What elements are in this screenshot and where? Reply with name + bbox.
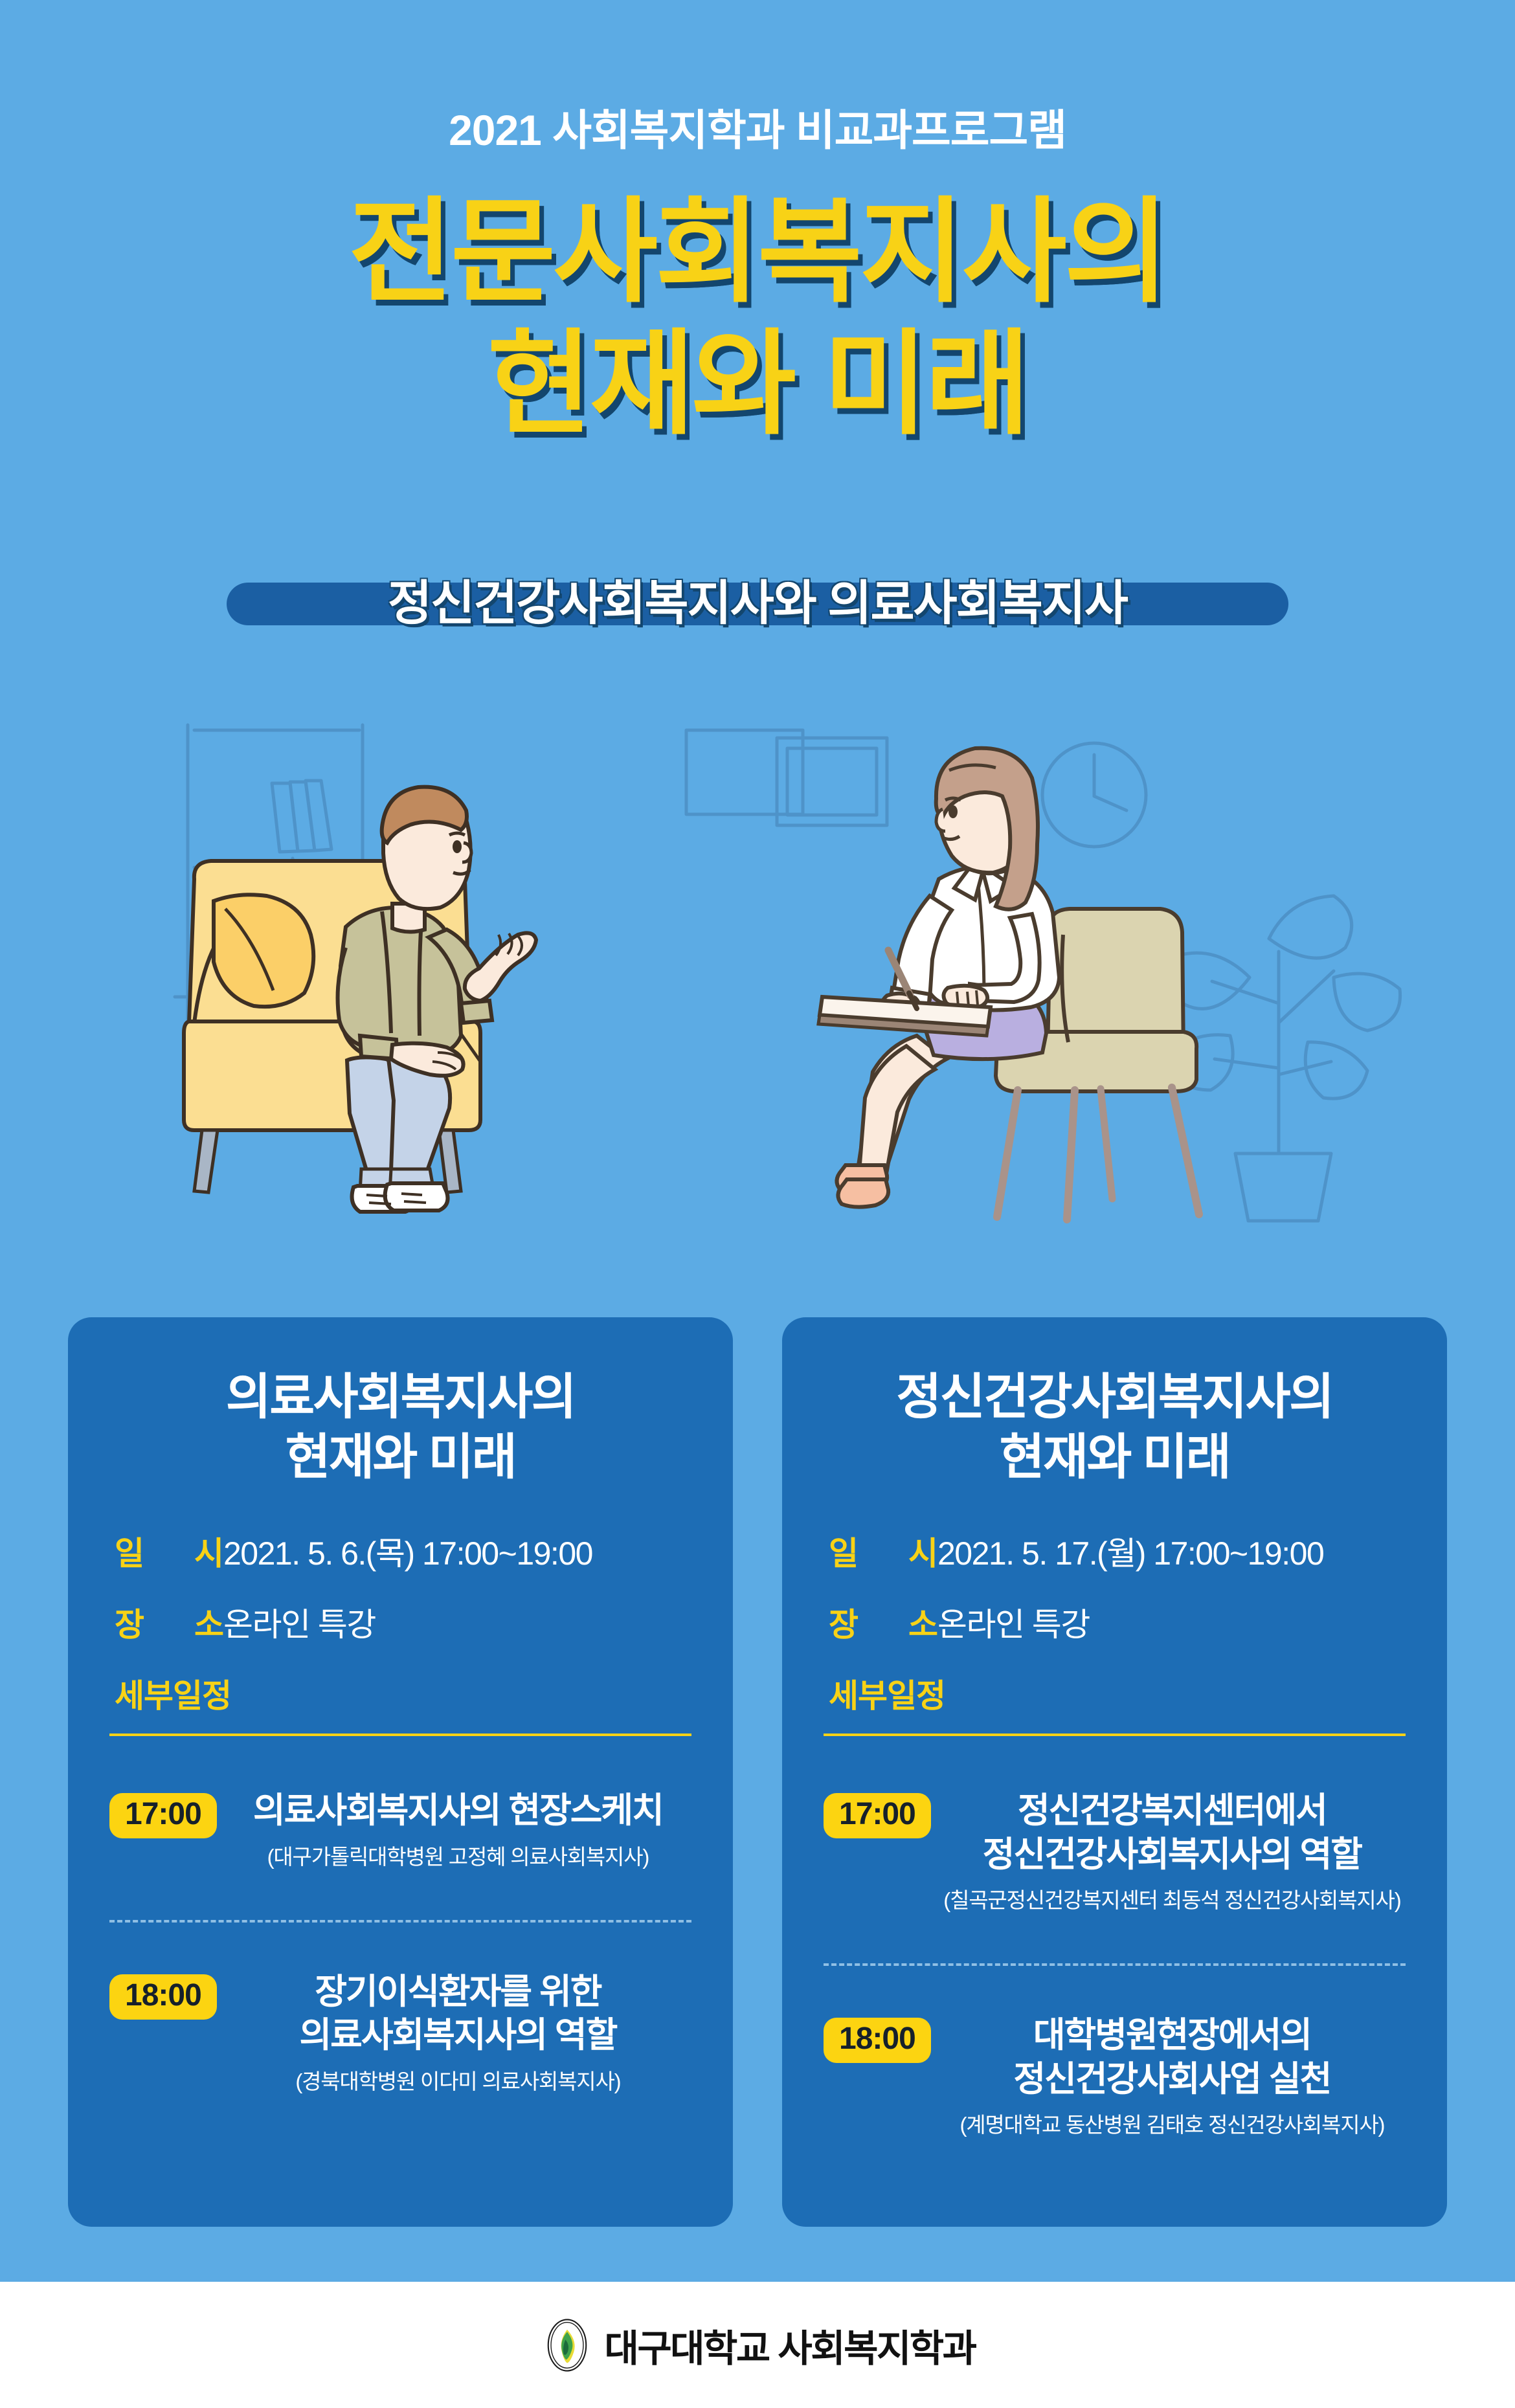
footer-bar: 대구대학교 사회복지학과 [0,2282,1515,2408]
schedule-title-line-1: 장기이식환자를 위한 [225,1970,691,2014]
meta-row-datetime: 일 시 2021. 5. 17.(월) 17:00~19:00 [820,1528,1409,1574]
poster-canvas: 2021 사회복지학과 비교과프로그램 전문사회복지사의 현재와 미래 정신건강… [0,0,1515,2408]
meta-row-datetime: 일 시 2021. 5. 6.(목) 17:00~19:00 [106,1528,695,1574]
schedule-title-line-2: 의료사회복지사의 역할 [225,2014,691,2058]
schedule-gap [820,1914,1409,1963]
counseling-session-illustration [0,673,1515,1243]
page-title-line-1: 전문사회복지사의 [0,186,1515,318]
meta-label-datetime-char-1: 일 [829,1528,858,1574]
schedule-item: 17:00 정신건강복지센터에서 정신건강사회복지사의 역할 (칠곡군정신건강복… [820,1789,1409,1914]
session-meta-list: 일 시 2021. 5. 17.(월) 17:00~19:00 장 소 온라인 … [820,1528,1409,1717]
session-card-title: 의료사회복지사의 현재와 미래 [106,1368,695,1488]
subtitle-banner: 정신건강사회복지사와 의료사회복지사 [388,564,1127,634]
schedule-item: 18:00 장기이식환자를 위한 의료사회복지사의 역할 (경북대학병원 이다미… [106,1970,695,2095]
schedule-speaker: (칠곡군정신건강복지센터 최동석 정신건강사회복지사) [939,1883,1406,1914]
session-card-title-line-1: 의료사회복지사의 [106,1368,695,1428]
schedule-row: 18:00 장기이식환자를 위한 의료사회복지사의 역할 (경북대학병원 이다미… [106,1970,695,2095]
meta-value-location: 온라인 특강 [937,1599,1090,1645]
schedule-title-line-1: 정신건강복지센터에서 [939,1789,1406,1833]
schedule-time-badge: 18:00 [824,2018,931,2063]
schedule-gap [106,1871,695,1920]
session-card-medical[interactable]: 의료사회복지사의 현재와 미래 일 시 2021. 5. 6.(목) 17:00… [68,1317,733,2227]
meta-label-datetime-char-2: 시 [194,1528,223,1574]
schedule-title: 정신건강복지센터에서 정신건강사회복지사의 역할 [939,1789,1406,1877]
page-title-line-2: 현재와 미래 [0,318,1515,451]
session-card-title-line-2: 현재와 미래 [820,1428,1409,1488]
meta-value-datetime: 2021. 5. 6.(목) 17:00~19:00 [223,1528,592,1574]
schedule-title: 의료사회복지사의 현장스케치 [225,1789,691,1833]
program-eyebrow: 2021 사회복지학과 비교과프로그램 [0,96,1515,158]
meta-label-location-char-1: 장 [115,1599,144,1645]
schedule-row: 17:00 정신건강복지센터에서 정신건강사회복지사의 역할 (칠곡군정신건강복… [820,1789,1409,1914]
meta-value-location: 온라인 특강 [223,1599,376,1645]
footer-organization: 대구대학교 사회복지학과 [604,2318,975,2372]
session-card-title-line-2: 현재와 미래 [106,1428,695,1488]
schedule-heading: 세부일정 [820,1670,1409,1717]
schedule-title: 장기이식환자를 위한 의료사회복지사의 역할 [225,1970,691,2058]
client-figure-and-armchair [184,787,536,1212]
schedule-item: 18:00 대학병원현장에서의 정신건강사회사업 실천 (계명대학교 동산병원 … [820,2014,1409,2139]
session-meta-list: 일 시 2021. 5. 6.(목) 17:00~19:00 장 소 온라인 특… [106,1528,695,1717]
meta-label-location: 장 소 [829,1599,937,1645]
schedule-time-badge: 17:00 [824,1793,931,1838]
counselor-figure-and-chair [818,748,1199,1220]
schedule-divider-solid [824,1734,1406,1736]
meta-label-location: 장 소 [115,1599,223,1645]
subtitle-text: 정신건강사회복지사와 의료사회복지사 [388,564,1127,634]
session-card-title-line-1: 정신건강사회복지사의 [820,1368,1409,1428]
schedule-divider-solid [109,1734,691,1736]
schedule-gap-2 [820,1966,1409,2014]
schedule-heading: 세부일정 [106,1670,695,1717]
meta-label-location-char-1: 장 [829,1599,858,1645]
schedule-gap-2 [106,1923,695,1970]
schedule-detail: 정신건강복지센터에서 정신건강사회복지사의 역할 (칠곡군정신건강복지센터 최동… [931,1789,1406,1914]
meta-label-location-char-2: 소 [908,1599,937,1645]
meta-row-location: 장 소 온라인 특강 [106,1599,695,1645]
schedule-title-line-2: 정신건강사회복지사의 역할 [939,1833,1406,1877]
schedule-detail: 의료사회복지사의 현장스케치 (대구가톨릭대학병원 고정혜 의료사회복지사) [217,1789,691,1871]
session-card-title: 정신건강사회복지사의 현재와 미래 [820,1368,1409,1488]
schedule-title: 대학병원현장에서의 정신건강사회사업 실천 [939,2014,1406,2101]
session-cards: 의료사회복지사의 현재와 미래 일 시 2021. 5. 6.(목) 17:00… [68,1317,1447,2227]
meta-label-datetime: 일 시 [115,1528,223,1574]
schedule-speaker: (경북대학병원 이다미 의료사회복지사) [225,2064,691,2095]
schedule-time-badge: 17:00 [109,1793,217,1838]
schedule-detail: 장기이식환자를 위한 의료사회복지사의 역할 (경북대학병원 이다미 의료사회복… [217,1970,691,2095]
schedule-time-badge: 18:00 [109,1974,217,2020]
schedule-title-line-2: 정신건강사회사업 실천 [939,2058,1406,2102]
meta-label-location-char-2: 소 [194,1599,223,1645]
session-card-mental-health[interactable]: 정신건강사회복지사의 현재와 미래 일 시 2021. 5. 17.(월) 17… [782,1317,1447,2227]
schedule-detail: 대학병원현장에서의 정신건강사회사업 실천 (계명대학교 동산병원 김태호 정신… [931,2014,1406,2139]
page-title: 전문사회복지사의 현재와 미래 [0,186,1515,451]
meta-row-location: 장 소 온라인 특강 [820,1599,1409,1645]
schedule-row: 18:00 대학병원현장에서의 정신건강사회사업 실천 (계명대학교 동산병원 … [820,2014,1409,2139]
meta-label-datetime-char-2: 시 [908,1528,937,1574]
schedule-speaker: (계명대학교 동산병원 김태호 정신건강사회복지사) [939,2108,1406,2139]
daegu-university-emblem-icon [539,2317,595,2373]
meta-value-datetime: 2021. 5. 17.(월) 17:00~19:00 [937,1528,1323,1574]
meta-label-datetime: 일 시 [829,1528,937,1574]
schedule-title-line-1: 의료사회복지사의 현장스케치 [225,1789,691,1833]
schedule-speaker: (대구가톨릭대학병원 고정혜 의료사회복지사) [225,1840,691,1871]
schedule-item: 17:00 의료사회복지사의 현장스케치 (대구가톨릭대학병원 고정혜 의료사회… [106,1789,695,1871]
meta-label-datetime-char-1: 일 [115,1528,144,1574]
schedule-title-line-1: 대학병원현장에서의 [939,2014,1406,2058]
schedule-row: 17:00 의료사회복지사의 현장스케치 (대구가톨릭대학병원 고정혜 의료사회… [106,1789,695,1871]
